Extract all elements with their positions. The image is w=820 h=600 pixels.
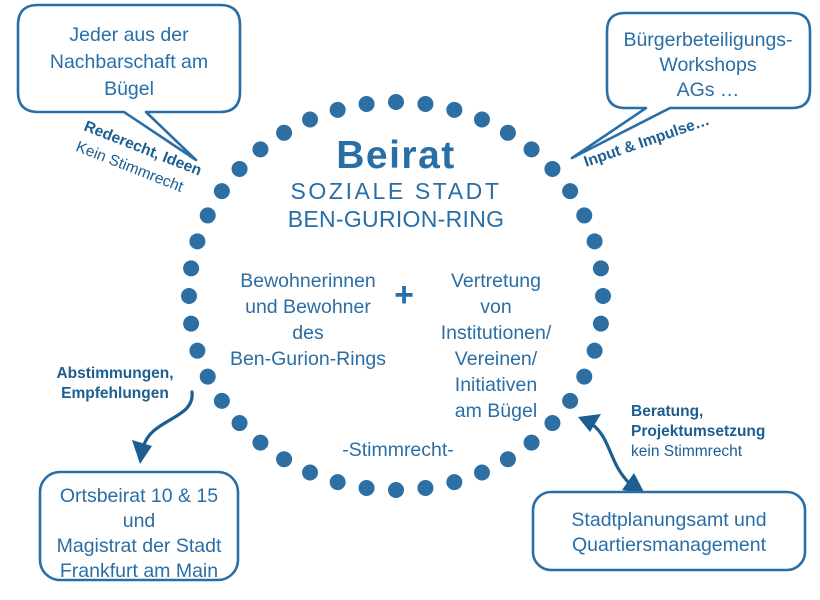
ring-dot (388, 94, 404, 110)
box-bottom-right-line: Quartiersmanagement (572, 534, 767, 556)
box-bottom-right-line: Stadtplanungsamt und (571, 509, 766, 531)
ring-dot (359, 96, 375, 112)
center-title: Beirat (336, 134, 456, 177)
box-bottom-left-line: Frankfurt am Main (60, 560, 218, 582)
ring-dot (587, 343, 603, 359)
annotation-beratung-line3: kein Stimmrecht (631, 443, 743, 460)
diagram-svg: Beirat SOZIALE STADT BEN-GURION-RING Bew… (0, 0, 820, 600)
ring-dot (388, 482, 404, 498)
ring-dot (544, 161, 560, 177)
ring-dot (214, 183, 230, 199)
ring-dot (252, 435, 268, 451)
annotation-rederecht: Rederecht, Ideen Kein Stimmrecht (73, 118, 204, 200)
ring-dot (587, 233, 603, 249)
diagram-canvas: Beirat SOZIALE STADT BEN-GURION-RING Bew… (0, 0, 820, 600)
ring-dot (500, 451, 516, 467)
left-column-line: des (292, 322, 324, 344)
ring-dot (252, 141, 268, 157)
ring-dot (183, 316, 199, 332)
ring-dot (576, 369, 592, 385)
box-bottom-left-line: Magistrat der Stadt (57, 535, 222, 557)
ring-dot (330, 102, 346, 118)
ring-dot (524, 435, 540, 451)
ring-dot (276, 125, 292, 141)
bubble-top-left-line: Jeder aus der (69, 24, 189, 46)
ring-dot (417, 96, 433, 112)
ring-dot (214, 393, 230, 409)
center-subtitle-1: SOZIALE STADT (290, 178, 501, 204)
ring-dot (302, 464, 318, 480)
right-column-line: Institutionen/ (441, 322, 552, 344)
box-bottom-right[interactable]: Stadtplanungsamt und Quartiersmanagement (533, 492, 805, 570)
ring-dot (446, 102, 462, 118)
ring-dot (593, 260, 609, 276)
ring-dot (593, 316, 609, 332)
center-subtitle-2: BEN-GURION-RING (288, 206, 505, 232)
ring-dot (524, 141, 540, 157)
right-column-line: Vereinen/ (455, 348, 538, 370)
ring-dot (189, 343, 205, 359)
ring-dot (183, 260, 199, 276)
ring-dot (500, 125, 516, 141)
ring-dot (200, 207, 216, 223)
annotation-abstimmungen: Abstimmungen, Empfehlungen (56, 365, 173, 402)
ring-dot (562, 393, 578, 409)
bubble-top-left-line: Bügel (104, 78, 154, 100)
ring-dot (474, 112, 490, 128)
left-column-line: Ben-Gurion-Rings (230, 348, 386, 370)
left-column-line: und Bewohner (245, 296, 371, 318)
right-column-line: Initiativen (455, 374, 537, 396)
arrow-beratung-path (592, 424, 630, 484)
annotation-beratung-line1: Beratung, (631, 403, 703, 420)
ring-dot (359, 480, 375, 496)
arrow-abstimmungen (132, 392, 192, 464)
box-bottom-left[interactable]: Ortsbeirat 10 & 15 und Magistrat der Sta… (40, 472, 238, 582)
ring-dot (417, 480, 433, 496)
arrow-abstimmungen-head (132, 440, 152, 464)
annotation-beratung: Beratung, Projektumsetzung kein Stimmrec… (631, 403, 765, 460)
box-bottom-right-shape (533, 492, 805, 570)
annotation-abstimmungen-line1: Abstimmungen, (56, 365, 173, 382)
ring-dot (544, 415, 560, 431)
center-footer-note: -Stimmrecht- (342, 439, 454, 461)
annotation-beratung-line2: Projektumsetzung (631, 423, 765, 440)
ring-dot (302, 112, 318, 128)
bubble-top-right[interactable]: Bürgerbeteiligungs- Workshops AGs … (572, 13, 810, 158)
right-column-line: Vertretung (451, 270, 541, 292)
ring-dot (562, 183, 578, 199)
center-content: Beirat SOZIALE STADT BEN-GURION-RING Bew… (230, 134, 552, 461)
annotation-abstimmungen-line2: Empfehlungen (61, 385, 169, 402)
ring-dot (595, 288, 611, 304)
ring-dot (232, 415, 248, 431)
ring-dot (446, 474, 462, 490)
ring-dot (200, 369, 216, 385)
right-column-line: von (480, 296, 511, 318)
ring-dot (189, 233, 205, 249)
ring-dot (474, 464, 490, 480)
left-column-line: Bewohnerinnen (240, 270, 376, 292)
box-bottom-left-line: und (123, 510, 156, 532)
ring-dot (232, 161, 248, 177)
bubble-top-left-line: Nachbarschaft am (50, 51, 208, 73)
ring-dot (276, 451, 292, 467)
ring-dot (330, 474, 346, 490)
box-bottom-left-line: Ortsbeirat 10 & 15 (60, 485, 218, 507)
ring-dot (576, 207, 592, 223)
right-column-line: am Bügel (455, 400, 537, 422)
plus-symbol: + (394, 276, 414, 314)
ring-dot (181, 288, 197, 304)
bubble-top-right-line: Workshops (659, 54, 756, 76)
bubble-top-right-line: AGs … (677, 79, 740, 101)
bubble-top-right-line: Bürgerbeteiligungs- (623, 29, 792, 51)
